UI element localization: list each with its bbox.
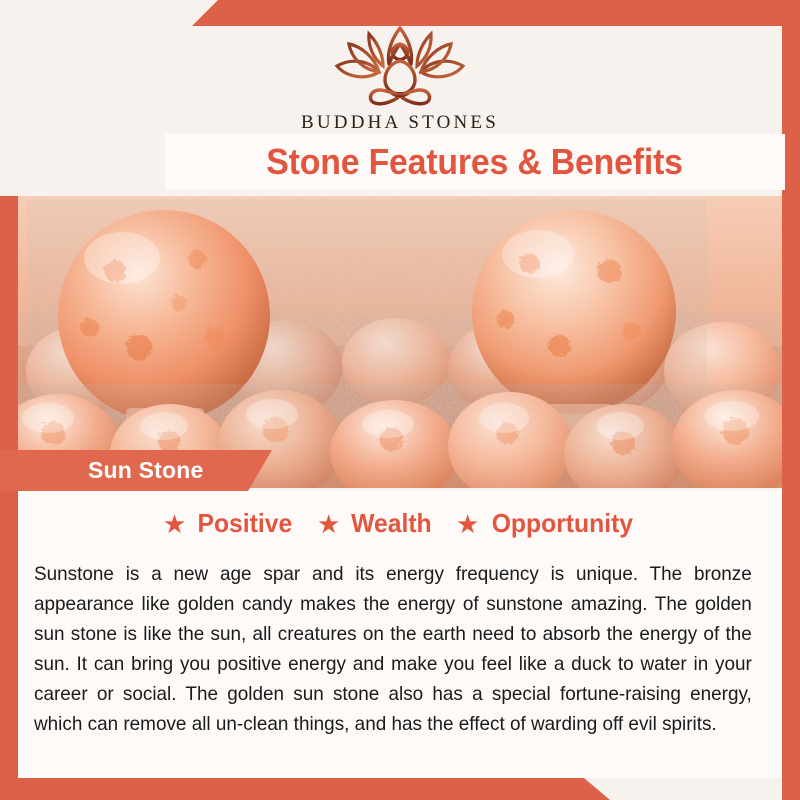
infographic-page: BUDDHA STONES Stone Features & Benefits — [0, 0, 800, 800]
feature-label: Wealth — [351, 508, 432, 539]
lotus-meditation-icon — [325, 22, 475, 108]
feature-label: Opportunity — [492, 508, 633, 539]
frame-left-accent — [0, 196, 18, 800]
brand-name: BUDDHA STONES — [0, 112, 800, 134]
sunstone-photo — [18, 196, 782, 488]
content-panel: ★ Positive ★ Wealth ★ Opportunity Sunsto… — [18, 490, 782, 778]
stone-description: Sunstone is a new age spar and its energ… — [34, 559, 752, 739]
sunstone-photo-graphic — [18, 196, 782, 488]
stone-name-banner: Sun Stone — [0, 450, 272, 491]
star-icon: ★ — [317, 511, 340, 537]
frame-bottom-accent — [0, 778, 800, 800]
frame-right-accent — [782, 0, 800, 800]
page-title: Stone Features & Benefits — [267, 141, 684, 183]
star-icon: ★ — [456, 511, 479, 537]
feature-label: Positive — [198, 508, 293, 539]
feature-item-opportunity: ★ Opportunity — [456, 508, 637, 539]
brand-logo: BUDDHA STONES — [0, 22, 800, 134]
title-banner: Stone Features & Benefits — [165, 134, 785, 190]
feature-list: ★ Positive ★ Wealth ★ Opportunity — [18, 508, 782, 539]
feature-item-positive: ★ Positive — [163, 508, 295, 539]
stone-name: Sun Stone — [88, 457, 204, 484]
feature-item-wealth: ★ Wealth — [317, 508, 434, 539]
star-icon: ★ — [163, 511, 186, 537]
